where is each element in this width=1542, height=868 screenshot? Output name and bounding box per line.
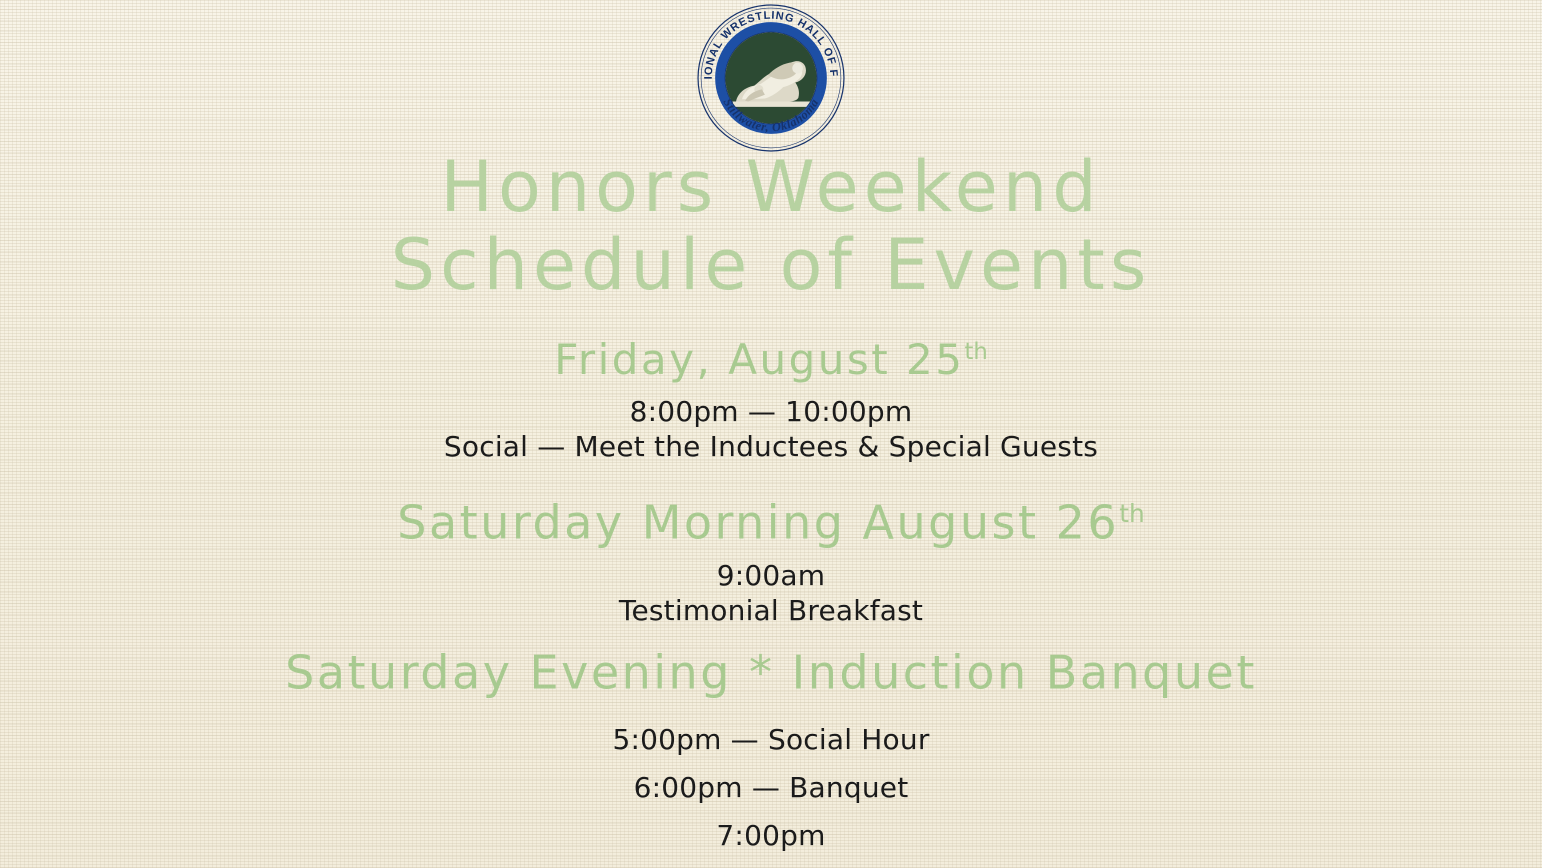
day-heading-saturday-evening: Saturday Evening * Induction Banquet [0,636,1542,700]
schedule-section-saturday-morning: Saturday Morning August 26th 9:00am Test… [0,486,1542,628]
schedule-section-friday: Friday, August 25th 8:00pm — 10:00pm Soc… [0,326,1542,464]
schedule-details-friday: 8:00pm — 10:00pm Social — Meet the Induc… [0,394,1542,464]
logo-container: NATIONAL WRESTLING HALL OF FAME Stillwat… [0,2,1542,154]
day-heading-saturday-evening-text: Saturday Evening * Induction Banquet [285,645,1257,699]
schedule-line: 8:00pm — 10:00pm [0,394,1542,429]
schedule-line: 6:00pm — Banquet [0,764,1542,812]
poster-canvas: NATIONAL WRESTLING HALL OF FAME Stillwat… [0,0,1542,868]
schedule-line: 7:00pm [0,812,1542,860]
page-title: Honors Weekend Schedule of Events [0,148,1542,304]
schedule-line: Testimonial Breakfast [0,593,1542,628]
page-title-line-1: Honors Weekend [0,148,1542,226]
day-heading-saturday-morning-text: Saturday Morning August 26 [397,495,1119,549]
national-wrestling-hall-of-fame-seal-icon: NATIONAL WRESTLING HALL OF FAME Stillwat… [695,2,847,154]
schedule-details-saturday-morning: 9:00am Testimonial Breakfast [0,558,1542,628]
schedule-section-saturday-evening: Saturday Evening * Induction Banquet 5:0… [0,636,1542,868]
schedule-line: 5:00pm — Social Hour [0,716,1542,764]
schedule-line: 9:00am [0,558,1542,593]
page-title-line-2: Schedule of Events [0,226,1542,304]
day-heading-friday-ordinal: th [965,339,988,365]
schedule-details-saturday-evening: 5:00pm — Social Hour 6:00pm — Banquet 7:… [0,716,1542,868]
day-heading-friday: Friday, August 25th [0,326,1542,386]
day-heading-saturday-morning: Saturday Morning August 26th [0,486,1542,550]
schedule-line: Induction Ceremony [0,860,1542,868]
schedule-line: Social — Meet the Inductees & Special Gu… [0,429,1542,464]
day-heading-friday-text: Friday, August 25 [554,335,964,384]
day-heading-saturday-morning-ordinal: th [1119,499,1144,528]
